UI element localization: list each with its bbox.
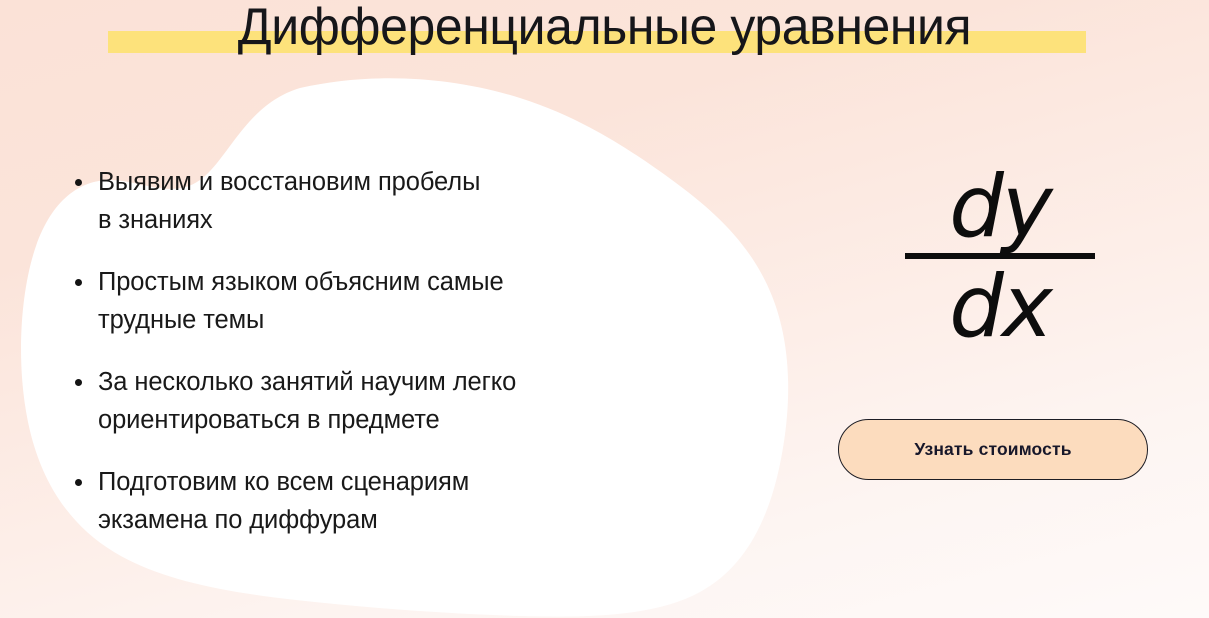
list-item-label: Простым языком объясним самые трудные те… <box>98 263 690 339</box>
title-highlight-band <box>108 31 1086 53</box>
benefits-list: Выявим и восстановим пробелы в знаниях П… <box>70 163 690 539</box>
title-text: Дифференциальные уравнения <box>24 0 1185 58</box>
list-item: Выявим и восстановим пробелы в знаниях <box>70 163 690 239</box>
derivative-formula: dy dx <box>905 163 1095 351</box>
list-item: За несколько занятий научим легко ориент… <box>70 363 690 439</box>
list-item-label: За несколько занятий научим легко ориент… <box>98 363 690 439</box>
list-item-label: Подготовим ко всем сценариям экзамена по… <box>98 463 690 539</box>
hero-section: Дифференциальные уравнения Выявим и восс… <box>0 0 1209 618</box>
formula-denominator: dx <box>905 263 1095 351</box>
bullet-dot-icon <box>75 179 82 186</box>
formula-numerator: dy <box>905 163 1095 251</box>
list-item-label: Выявим и восстановим пробелы в знаниях <box>98 163 690 239</box>
bullet-dot-icon <box>75 279 82 286</box>
get-price-button[interactable]: Узнать стоимость <box>838 419 1148 480</box>
bullet-dot-icon <box>75 479 82 486</box>
bullet-dot-icon <box>75 379 82 386</box>
list-item: Простым языком объясним самые трудные те… <box>70 263 690 339</box>
list-item: Подготовим ко всем сценариям экзамена по… <box>70 463 690 539</box>
